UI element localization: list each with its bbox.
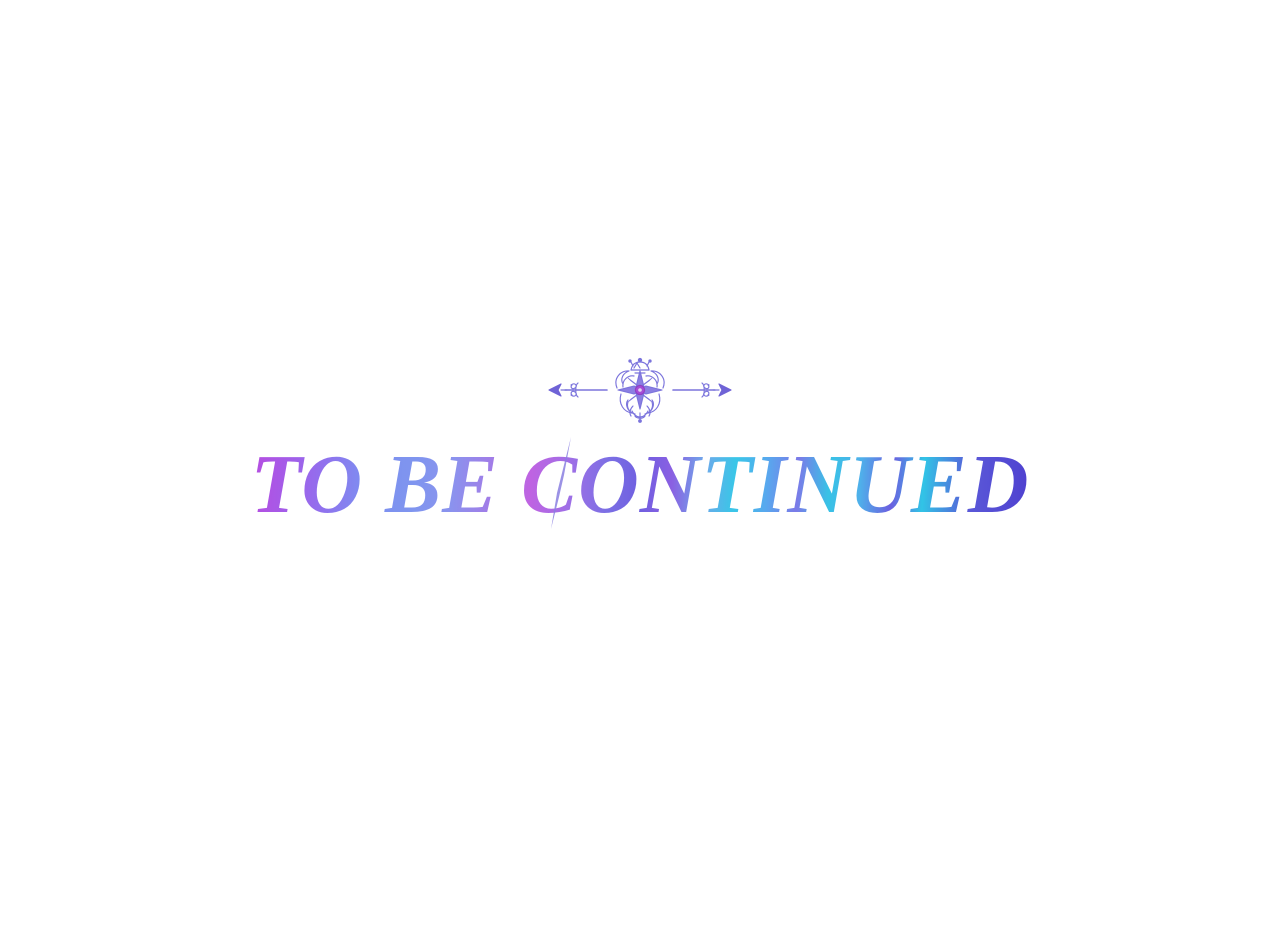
title-stack: TO BE CONTINUED — [249, 443, 1032, 527]
page-title: TO BE CONTINUED — [249, 443, 1032, 527]
end-card-screen: TO BE CONTINUED — [0, 0, 1280, 940]
divider-ornament-container — [0, 352, 1280, 428]
title-container: TO BE CONTINUED — [0, 430, 1280, 540]
flourish-divider-icon — [545, 354, 735, 426]
